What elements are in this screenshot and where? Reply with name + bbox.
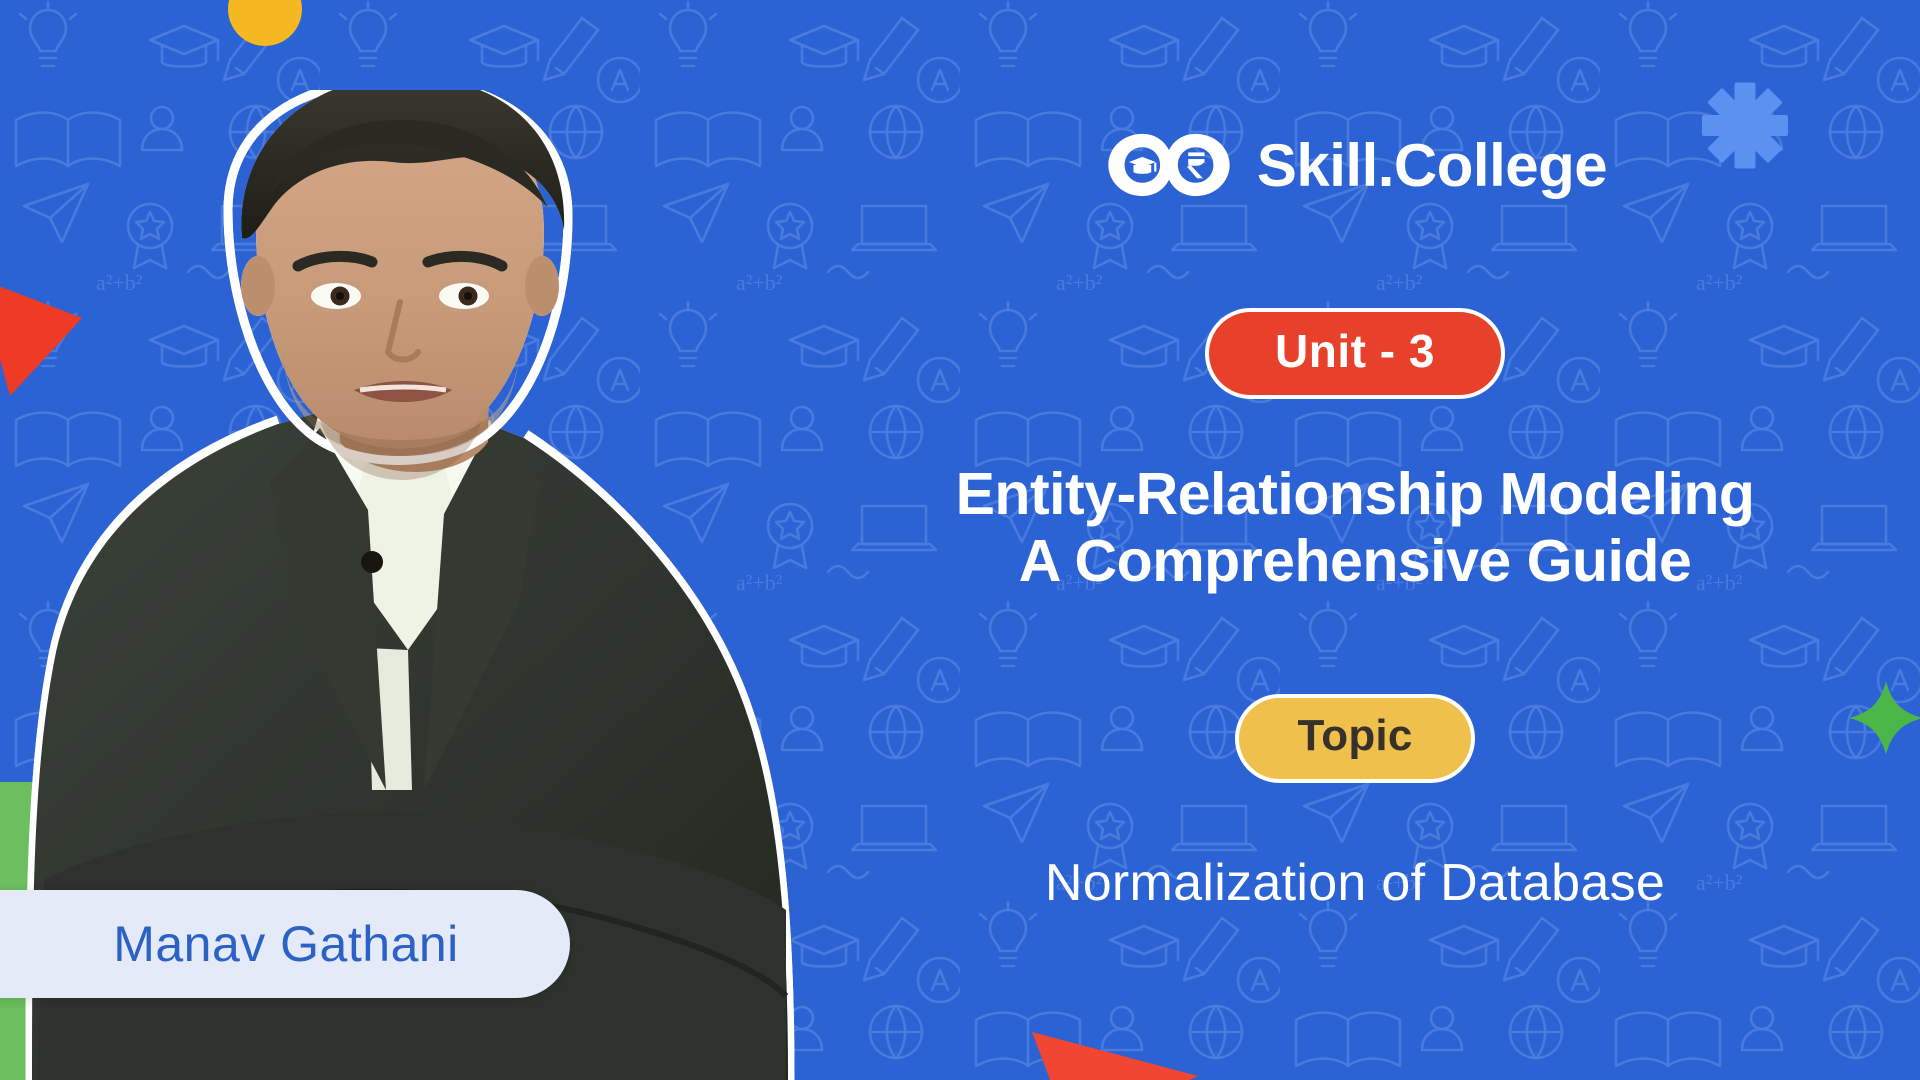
slide-canvas: a²+b² (0, 0, 1920, 1080)
topic-badge: Topic (1235, 694, 1474, 782)
title-line-2: A Comprehensive Guide (956, 528, 1755, 596)
presenter-name-banner: Manav Gathani (0, 890, 570, 998)
infinity-graduation-rupee-icon (1103, 128, 1235, 202)
unit-badge: Unit - 3 (1205, 308, 1505, 399)
page-title: Entity-Relationship Modeling A Comprehen… (956, 461, 1755, 597)
brand-name: Skill.College (1257, 131, 1607, 200)
brand-logo: Skill.College (1103, 128, 1607, 202)
title-line-1: Entity-Relationship Modeling (956, 461, 1755, 527)
slide-content: Skill.College Unit - 3 Entity-Relationsh… (790, 0, 1920, 1080)
yellow-circle-decoration (228, 0, 302, 46)
topic-name: Normalization of Database (1045, 853, 1665, 913)
presenter-name: Manav Gathani (51, 915, 459, 973)
